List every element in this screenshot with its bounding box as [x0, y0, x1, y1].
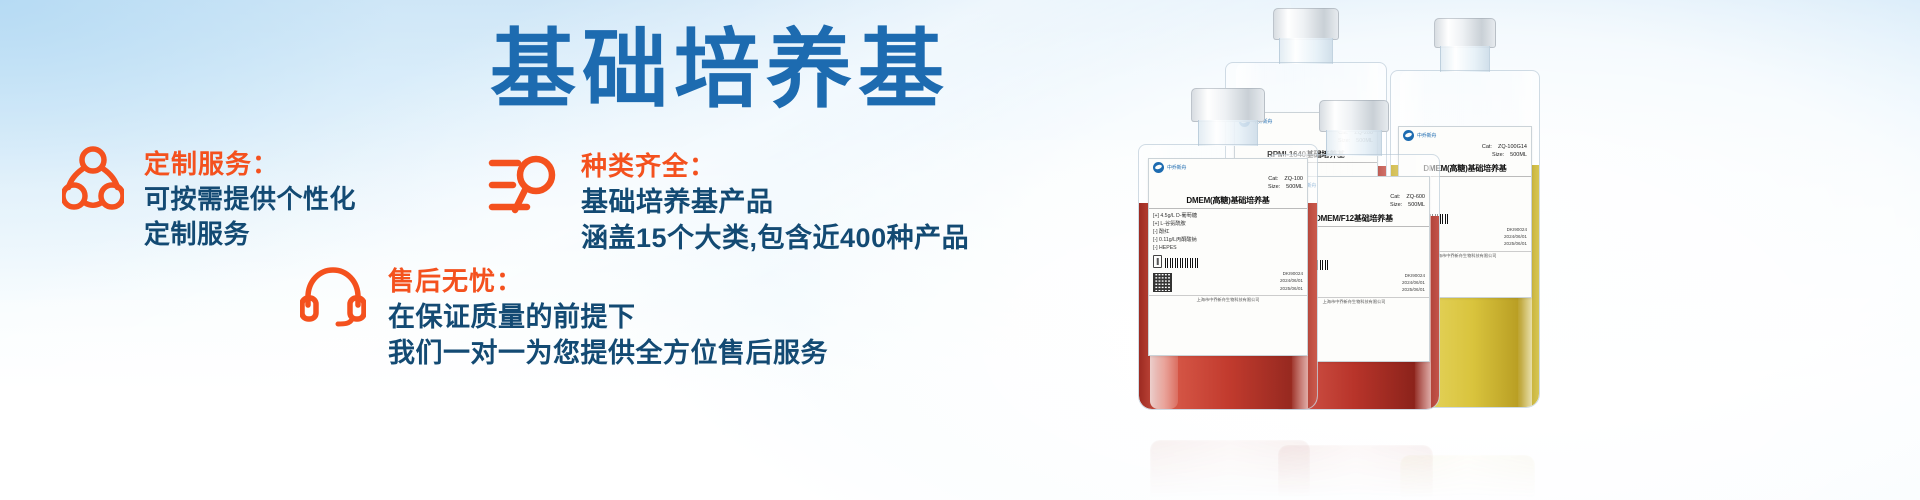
bottle-brand: 中乔新舟: [1167, 164, 1186, 171]
cat-value: ZQ-100: [1284, 175, 1303, 183]
headset-icon: [300, 265, 366, 332]
feature-block-after-sales: 售后无忧： 在保证质量的前提下 我们一对一为您提供全方位售后服务: [300, 265, 828, 371]
cat-label: Cat:: [1268, 175, 1278, 183]
size-label: Size:: [1390, 201, 1402, 209]
bottle-date-2: 2025/06/01: [1280, 286, 1303, 291]
bottle-lot: DKI90024: [1507, 227, 1527, 232]
feature-heading-after-sales: 售后无忧：: [388, 265, 828, 299]
bottle-component: [+] L-谷氨酰胺: [1153, 220, 1303, 228]
cat-value: ZQ-600: [1406, 193, 1425, 201]
feature-line-support-1: 在保证质量的前提下: [388, 299, 828, 335]
size-value: 500ML: [1286, 183, 1303, 191]
size-label: Size:: [1492, 151, 1504, 159]
banner-title: 基础培养基: [490, 24, 950, 117]
cat-label: Cat:: [1482, 143, 1492, 151]
cat-label: Cat:: [1390, 193, 1400, 201]
size-value: 500ML: [1510, 151, 1527, 159]
bottle-reflection-right: [1400, 455, 1535, 500]
bottle-date-1: 2024/06/01: [1504, 234, 1527, 239]
feature-line-variety-1: 基础培养基产品: [581, 184, 969, 220]
bottle-lot: DKI90024: [1405, 273, 1425, 278]
feature-line-custom-1: 可按需提供个性化: [144, 182, 356, 217]
bottle-front-left: 中乔新舟 Cat: ZQ-100 Size: 500ML DMEM(高糖)基础培…: [1138, 88, 1318, 410]
qr-code: [1153, 273, 1172, 292]
bottle-component: [-] HEPES: [1153, 244, 1303, 252]
bottle-product-name: DMEM(高糖)基础培养基: [1149, 192, 1307, 209]
bottle-date-1: 2024/06/01: [1402, 280, 1425, 285]
storage-icon: [1153, 255, 1162, 268]
brand-logo-icon: [1153, 162, 1164, 173]
feature-line-support-2: 我们一对一为您提供全方位售后服务: [388, 335, 828, 371]
bottle-lot: DKI90024: [1283, 271, 1303, 276]
feature-line-custom-2: 定制服务: [144, 217, 356, 252]
bottle-component: [-] 0.11g/L丙酮酸钠: [1153, 236, 1303, 244]
bottle-date-2: 2025/06/01: [1504, 241, 1527, 246]
product-bottles-group: 中乔新舟 Cat: ZQ-100G14 Size: 500ML DMEM(高糖)…: [1120, 0, 1920, 500]
cat-value: ZQ-100G14: [1498, 143, 1527, 151]
barcode: [1165, 258, 1199, 268]
bottle-date-1: 2024/06/01: [1280, 278, 1303, 283]
feature-heading-full-variety: 种类齐全：: [581, 150, 969, 184]
bottle-component: [+] 4.5g/L D-葡萄糖: [1153, 212, 1303, 220]
bottle-label-front-left: 中乔新舟 Cat: ZQ-100 Size: 500ML DMEM(高糖)基础培…: [1148, 158, 1308, 356]
bottle-address: 上海市中乔新舟生物科技有限公司: [1149, 295, 1307, 305]
size-value: 500ML: [1408, 201, 1425, 209]
bottle-date-2: 2025/06/01: [1402, 287, 1425, 292]
search-list-icon: [487, 150, 559, 225]
feature-block-full-variety: 种类齐全： 基础培养基产品 涵盖15个大类,包含近400种产品: [487, 150, 969, 256]
network-nodes-icon: [62, 146, 124, 217]
feature-heading-custom-service: 定制服务：: [144, 148, 356, 182]
bottle-component: [-] 酚红: [1153, 228, 1303, 236]
feature-line-variety-2: 涵盖15个大类,包含近400种产品: [581, 220, 969, 256]
feature-block-custom-service: 定制服务： 可按需提供个性化 定制服务: [62, 146, 356, 251]
promo-banner: 基础培养基 定制服务： 可按需提供个性化 定制服务: [0, 0, 1920, 500]
size-label: Size:: [1268, 183, 1280, 191]
